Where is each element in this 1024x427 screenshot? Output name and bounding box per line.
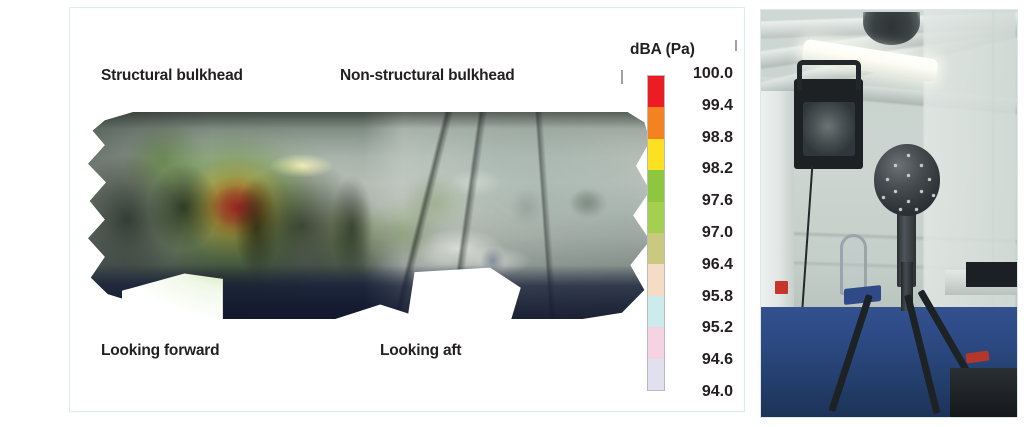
colorbar-band-8: [648, 327, 664, 358]
panorama-image: [88, 112, 650, 319]
mic-capsule-10: [915, 208, 918, 211]
mic-capsule-7: [920, 190, 923, 193]
photo-laptop: [966, 262, 1017, 286]
photo-wall-monitor: [794, 79, 863, 169]
panorama-heatmap: [88, 112, 650, 319]
colorbar-band-5: [648, 233, 664, 264]
colorbar-tick-95-2: 95.2: [667, 320, 733, 336]
mic-capsule-9: [899, 208, 902, 211]
photo-door-stanchion: [760, 91, 794, 335]
photo-spherical-mic-array: [874, 144, 941, 215]
mic-capsule-1: [894, 164, 897, 167]
mic-capsule-12: [932, 194, 935, 197]
colorbar-tick-98-8: 98.8: [667, 130, 733, 146]
colorbar-band-9: [648, 359, 664, 390]
figure-root: Structural bulkhead Non-structural bulkh…: [0, 0, 1024, 427]
mic-capsule-11: [882, 196, 885, 199]
mic-capsule-3: [886, 178, 889, 181]
acoustic-heatmap-overlay: [88, 112, 650, 319]
mic-capsule-8: [907, 200, 910, 203]
colorbar-tick-98-2: 98.2: [667, 161, 733, 177]
tick-mark-right: [735, 40, 737, 51]
mic-capsule-6: [894, 190, 897, 193]
colorbar-tick-99-4: 99.4: [667, 98, 733, 114]
colorbar-gradient: [647, 75, 665, 391]
tick-mark-left: [621, 70, 623, 84]
annotation-structural-bulkhead: Structural bulkhead: [101, 67, 243, 85]
colorbar-band-0: [648, 76, 664, 107]
annotation-non-structural-bulkhead: Non-structural bulkhead: [340, 67, 515, 85]
colorbar-band-3: [648, 170, 664, 201]
colorbar-tick-97-0: 97.0: [667, 225, 733, 241]
colorbar-tick-94-0: 94.0: [667, 384, 733, 400]
colorbar-tick-labels: 100.099.498.898.297.697.096.495.895.294.…: [667, 66, 741, 400]
photo-red-tag: [775, 281, 788, 294]
colorbar-band-1: [648, 107, 664, 138]
annotation-looking-forward: Looking forward: [101, 342, 219, 360]
microphone-array-photo: [760, 9, 1018, 418]
annotation-looking-aft: Looking aft: [380, 342, 461, 360]
mic-capsule-2: [920, 164, 923, 167]
mic-capsule-0: [907, 154, 910, 157]
colorbar-tick-96-4: 96.4: [667, 257, 733, 273]
colorbar-title: dBA (Pa): [630, 41, 695, 59]
mic-capsule-5: [928, 178, 931, 181]
colorbar-tick-95-8: 95.8: [667, 289, 733, 305]
colorbar-band-7: [648, 296, 664, 327]
colorbar-tick-97-6: 97.6: [667, 193, 733, 209]
mic-capsule-4: [907, 174, 910, 177]
colorbar-band-4: [648, 202, 664, 233]
colorbar-band-2: [648, 139, 664, 170]
colorbar-tick-94-6: 94.6: [667, 352, 733, 368]
colorbar-tick-100-0: 100.0: [667, 66, 733, 82]
acoustic-map-panel: Structural bulkhead Non-structural bulkh…: [69, 7, 745, 412]
colorbar-band-6: [648, 264, 664, 295]
photo-equipment-case: [950, 368, 1017, 417]
